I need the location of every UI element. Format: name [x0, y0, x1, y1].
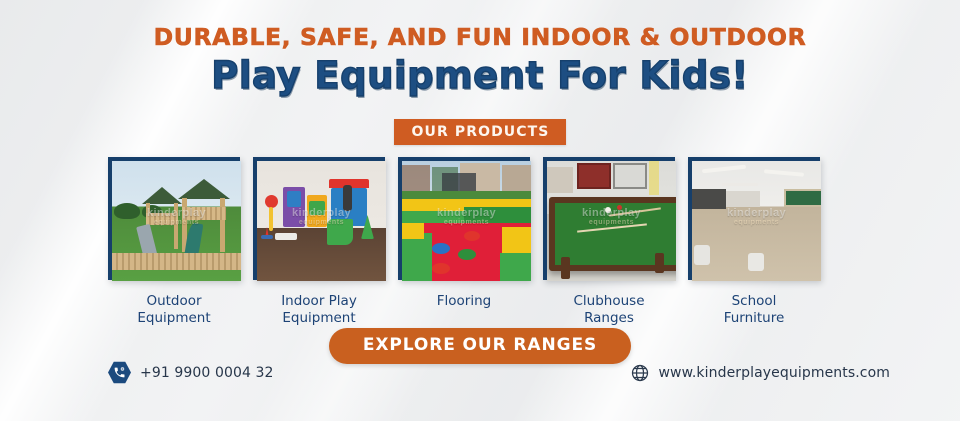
product-image-clubhouse: kinderplay equipments — [547, 161, 676, 281]
card-frame: kinderplay equipments — [253, 157, 385, 280]
product-card-flooring[interactable]: kinderplay equipments Flooring — [398, 157, 530, 328]
product-image-indoor: kinderplay equipments — [257, 161, 386, 281]
product-label: Clubhouse Ranges — [543, 293, 675, 328]
product-card-outdoor-equipment[interactable]: kinderplay equipments Outdoor Equipment — [108, 157, 240, 328]
card-frame: kinderplay equipments — [108, 157, 240, 280]
explore-our-ranges-button[interactable]: EXPLORE OUR RANGES — [329, 328, 631, 364]
card-frame: kinderplay equipments — [398, 157, 530, 280]
product-label: Flooring — [398, 293, 530, 310]
product-card-indoor-play-equipment[interactable]: kinderplay equipments Indoor Play Equipm… — [253, 157, 385, 328]
product-label: Indoor Play Equipment — [253, 293, 385, 328]
section-badge-row: OUR PRODUCTS — [0, 119, 960, 145]
product-card-school-furniture[interactable]: kinderplay equipments School Furniture — [688, 157, 820, 328]
our-products-badge: OUR PRODUCTS — [394, 119, 567, 145]
product-image-flooring: kinderplay equipments — [402, 161, 531, 281]
product-image-school-furniture: kinderplay equipments — [692, 161, 821, 281]
page-title: Play Equipment For Kids! — [0, 57, 960, 96]
kicker-text: DURABLE, SAFE, AND FUN INDOOR & OUTDOOR — [0, 26, 960, 50]
card-frame: kinderplay equipments — [543, 157, 675, 280]
product-card-row: kinderplay equipments Outdoor Equipment — [108, 157, 860, 328]
product-card-clubhouse-ranges[interactable]: kinderplay equipments Clubhouse Ranges — [543, 157, 675, 328]
promo-banner: DURABLE, SAFE, AND FUN INDOOR & OUTDOOR … — [0, 0, 960, 421]
headline-block: DURABLE, SAFE, AND FUN INDOOR & OUTDOOR … — [0, 26, 960, 95]
cta-row: EXPLORE OUR RANGES — [0, 328, 960, 364]
card-frame: kinderplay equipments — [688, 157, 820, 280]
product-label: School Furniture — [688, 293, 820, 328]
globe-icon — [630, 363, 650, 383]
website-url: www.kinderplayequipments.com — [659, 365, 891, 381]
footer-contact-row: +91 9900 0004 32 www.kinderplayequipment… — [108, 361, 890, 384]
product-label: Outdoor Equipment — [108, 293, 240, 328]
phone-contact[interactable]: +91 9900 0004 32 — [108, 361, 274, 384]
product-image-outdoor: kinderplay equipments — [112, 161, 241, 281]
phone-icon — [108, 361, 131, 384]
website-contact[interactable]: www.kinderplayequipments.com — [630, 363, 891, 383]
phone-number: +91 9900 0004 32 — [140, 365, 274, 381]
